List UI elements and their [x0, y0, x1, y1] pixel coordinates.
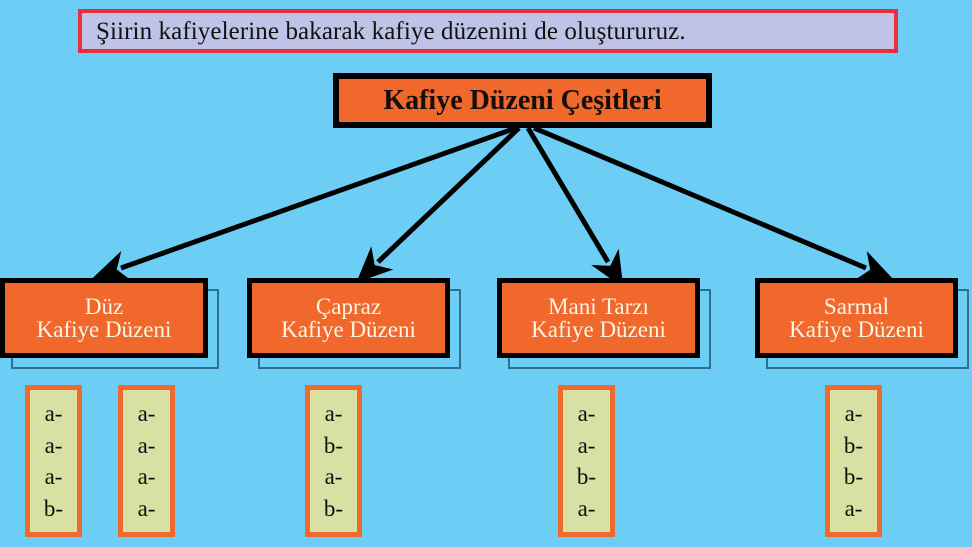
arrow-to-capraz — [378, 128, 519, 262]
rhyme-line: a- — [45, 402, 63, 425]
rhyme-pattern-duz-1: a- a- a- b- — [25, 385, 82, 537]
rhyme-line: a- — [138, 465, 156, 488]
rhyme-line: a- — [578, 402, 596, 425]
rhyme-pattern-capraz-1: a- b- a- b- — [305, 385, 362, 537]
rhyme-line: a- — [325, 465, 343, 488]
root-node-label: Kafiye Düzeni Çeşitleri — [383, 85, 661, 117]
rhyme-line: a- — [578, 434, 596, 457]
rhyme-line: a- — [578, 497, 596, 520]
rhyme-line: b- — [844, 434, 863, 457]
category-label-line1: Sarmal — [824, 295, 889, 318]
category-node-box: Düz Kafiye Düzeni — [0, 278, 208, 358]
root-node: Kafiye Düzeni Çeşitleri — [333, 73, 712, 128]
category-label-line2: Kafiye Düzeni — [281, 318, 416, 341]
category-label-line2: Kafiye Düzeni — [531, 318, 666, 341]
rhyme-line: a- — [325, 402, 343, 425]
category-node-duz: Düz Kafiye Düzeni — [0, 278, 208, 358]
category-node-capraz: Çapraz Kafiye Düzeni — [247, 278, 450, 358]
rhyme-line: a- — [138, 402, 156, 425]
category-node-box: Çapraz Kafiye Düzeni — [247, 278, 450, 358]
diagram-canvas: Şiirin kafiyelerine bakarak kafiye düzen… — [0, 0, 972, 547]
category-node-sarmal: Sarmal Kafiye Düzeni — [755, 278, 958, 358]
rhyme-line: b- — [324, 434, 343, 457]
rhyme-line: a- — [845, 497, 863, 520]
category-label-line2: Kafiye Düzeni — [789, 318, 924, 341]
rhyme-line: b- — [324, 497, 343, 520]
category-label-line2: Kafiye Düzeni — [37, 318, 172, 341]
rhyme-line: a- — [138, 497, 156, 520]
category-label-line1: Düz — [85, 295, 123, 318]
rhyme-line: b- — [844, 465, 863, 488]
category-label-line1: Çapraz — [316, 295, 381, 318]
rhyme-line: b- — [44, 497, 63, 520]
arrow-to-sarmal — [534, 128, 866, 268]
rhyme-pattern-duz-2: a- a- a- a- — [118, 385, 175, 537]
arrow-to-duz — [121, 128, 516, 268]
category-label-line1: Mani Tarzı — [548, 295, 649, 318]
rhyme-pattern-sarmal-1: a- b- b- a- — [825, 385, 882, 537]
rhyme-line: a- — [45, 465, 63, 488]
arrow-to-mani — [528, 128, 608, 262]
rhyme-line: b- — [577, 465, 596, 488]
category-node-mani-tarzi: Mani Tarzı Kafiye Düzeni — [497, 278, 700, 358]
rhyme-line: a- — [45, 434, 63, 457]
rhyme-pattern-mani-tarzi-1: a- a- b- a- — [558, 385, 615, 537]
category-node-box: Mani Tarzı Kafiye Düzeni — [497, 278, 700, 358]
rhyme-line: a- — [845, 402, 863, 425]
category-node-box: Sarmal Kafiye Düzeni — [755, 278, 958, 358]
rhyme-line: a- — [138, 434, 156, 457]
